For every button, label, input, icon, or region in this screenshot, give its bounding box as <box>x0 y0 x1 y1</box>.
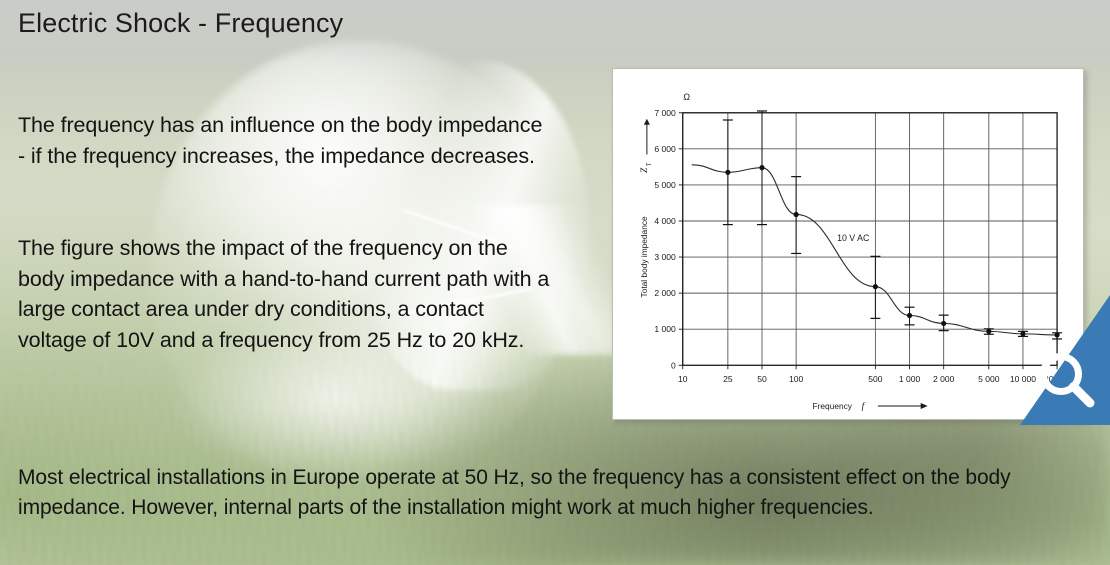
chart-inner: 01 0002 0003 0004 0005 0006 0007 0001025… <box>621 77 1075 411</box>
data-point <box>986 329 991 334</box>
x-tick-label: 50 <box>757 374 767 384</box>
x-tick-label: 25 <box>723 374 733 384</box>
x-tick-label: 2 000 <box>933 374 955 384</box>
data-point <box>941 321 946 326</box>
x-tick-label: 10 <box>678 374 688 384</box>
x-tick-label: 5 000 <box>978 374 1000 384</box>
data-point <box>873 284 878 289</box>
x-axis-title: Frequency <box>813 401 853 411</box>
y-tick-label: 2 000 <box>654 288 676 298</box>
body-impedance-frequency-chart: 01 0002 0003 0004 0005 0006 0007 0001025… <box>621 77 1075 411</box>
y-tick-label: 0 <box>671 360 676 370</box>
y-tick-label: 7 000 <box>654 108 676 118</box>
y-axis-arrow-head <box>644 119 650 125</box>
y-tick-label: 4 000 <box>654 216 676 226</box>
paragraph-europe-50hz: Most electrical installations in Europe … <box>18 463 1088 523</box>
chart-panel: 01 0002 0003 0004 0005 0006 0007 0001025… <box>612 68 1084 420</box>
data-point <box>759 165 764 170</box>
x-tick-label: 1 000 <box>899 374 921 384</box>
data-point <box>907 313 912 318</box>
y-tick-label: 1 000 <box>654 324 676 334</box>
data-point <box>725 170 730 175</box>
fitted-curve <box>692 165 1057 335</box>
y-tick-label: 6 000 <box>654 144 676 154</box>
y-axis-unit: Ω <box>683 92 690 102</box>
y-axis-title: Total body impedance <box>639 216 649 297</box>
page-title: Electric Shock - Frequency <box>18 4 343 42</box>
zoom-corner-overlay[interactable] <box>1020 295 1110 425</box>
plot-frame <box>683 113 1057 365</box>
y-axis-symbol: Z <box>640 167 650 173</box>
y-tick-label: 5 000 <box>654 180 676 190</box>
y-axis-symbol-subscript: T <box>647 162 653 166</box>
slide-root: Electric Shock - Frequency The frequency… <box>0 0 1110 565</box>
x-tick-label: 500 <box>868 374 883 384</box>
paragraph-frequency-influence: The frequency has an influence on the bo… <box>18 110 548 171</box>
chart-annotation: 10 V AC <box>837 233 869 243</box>
y-tick-label: 3 000 <box>654 252 676 262</box>
x-axis-arrow-head <box>921 403 928 409</box>
magnifier-icon[interactable] <box>1034 347 1100 413</box>
data-point <box>794 212 799 217</box>
paragraph-figure-description: The figure shows the impact of the frequ… <box>18 233 558 355</box>
x-axis-symbol: f <box>862 401 866 411</box>
x-tick-label: 100 <box>789 374 804 384</box>
